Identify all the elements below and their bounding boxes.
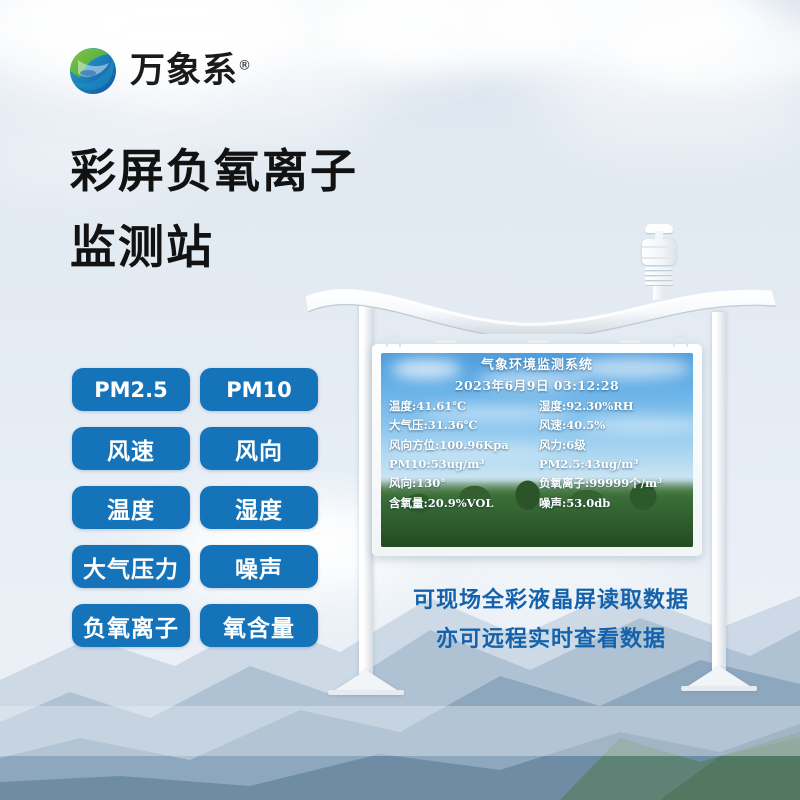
display-readout-left: 风向:130°: [389, 474, 535, 493]
display-readout-row: 大气压:31.36℃风速:40.5%: [389, 416, 685, 435]
display-readout-right: PM2.5:43ug/m³: [535, 455, 685, 474]
display-datetime: 2023年6月9日 03:12:28: [389, 375, 685, 394]
display-readout-row: 风向:130°负氧离子:99999个/m³: [389, 474, 685, 493]
feature-tag[interactable]: PM10: [200, 368, 318, 411]
display-readout-row: PM10:53ug/m³PM2.5:43ug/m³: [389, 455, 685, 474]
brand-name-text: 万象系: [130, 51, 238, 91]
display-readout-left: 大气压:31.36℃: [389, 416, 535, 435]
lcd-screen: 气象环境监测系统 2023年6月9日 03:12:28 温度:41.61℃湿度:…: [381, 353, 693, 547]
display-readout-rows: 温度:41.61℃湿度:92.30%RH大气压:31.36℃风速:40.5%风向…: [389, 397, 685, 513]
display-readout-row: 温度:41.61℃湿度:92.30%RH: [389, 397, 685, 416]
poster-canvas: 万象系® 彩屏负氧离子 监测站 PM2.5PM10风速风向温度湿度大气压力噪声负…: [0, 0, 800, 800]
display-readout-right: 负氧离子:99999个/m³: [535, 474, 685, 493]
display-readout-left: 风向方位:100.96Kpa: [389, 436, 535, 455]
brand-logo: 万象系®: [66, 44, 252, 98]
trademark-symbol: ®: [238, 58, 252, 73]
display-readout-right: 风速:40.5%: [535, 416, 685, 435]
feature-tag[interactable]: 噪声: [200, 545, 318, 588]
headline-line-1: 彩屏负氧离子: [70, 148, 490, 194]
panel-hook-left: [386, 335, 401, 347]
panel-bracket-2: [528, 340, 548, 343]
feature-tag[interactable]: 大气压力: [72, 545, 190, 588]
feature-tag[interactable]: 温度: [72, 486, 190, 529]
display-readout-left: 温度:41.61℃: [389, 397, 535, 416]
globe-swirl-icon: [66, 44, 120, 98]
caption-line-2: 亦可远程实时查看数据: [386, 621, 716, 660]
display-readout-left: PM10:53ug/m³: [389, 455, 535, 474]
display-title: 气象环境监测系统: [389, 359, 685, 374]
feature-tag[interactable]: 负氧离子: [72, 604, 190, 647]
brand-name: 万象系®: [130, 54, 252, 89]
display-readout-row: 风向方位:100.96Kpa风力:6级: [389, 436, 685, 455]
display-readout-right: 风力:6级: [535, 436, 685, 455]
panel-bracket-3: [620, 340, 640, 343]
feature-tag[interactable]: 风速: [72, 427, 190, 470]
lcd-display-panel[interactable]: 气象环境监测系统 2023年6月9日 03:12:28 温度:41.61℃湿度:…: [372, 344, 702, 556]
panel-bracket-1: [436, 340, 456, 343]
wave-crossbeam: [300, 272, 780, 334]
feature-tag-grid: PM2.5PM10风速风向温度湿度大气压力噪声负氧离子氧含量: [72, 368, 318, 647]
feature-tag[interactable]: 湿度: [200, 486, 318, 529]
display-readout-row: 含氧量:20.9%VOL噪声:53.0db: [389, 494, 685, 513]
feature-tag[interactable]: PM2.5: [72, 368, 190, 411]
display-readout-right: 噪声:53.0db: [535, 494, 685, 513]
page-title: 彩屏负氧离子 监测站: [70, 148, 490, 270]
feature-tag[interactable]: 氧含量: [200, 604, 318, 647]
feature-tag[interactable]: 风向: [200, 427, 318, 470]
headline-line-2: 监测站: [70, 224, 490, 270]
panel-hook-right: [673, 335, 688, 347]
display-readout-right: 湿度:92.30%RH: [535, 397, 685, 416]
caption-line-1: 可现场全彩液晶屏读取数据: [386, 582, 716, 621]
caption-block: 可现场全彩液晶屏读取数据 亦可远程实时查看数据: [386, 582, 716, 659]
weather-sensor-radiation-shield: [636, 224, 682, 298]
display-readout-left: 含氧量:20.9%VOL: [389, 494, 535, 513]
